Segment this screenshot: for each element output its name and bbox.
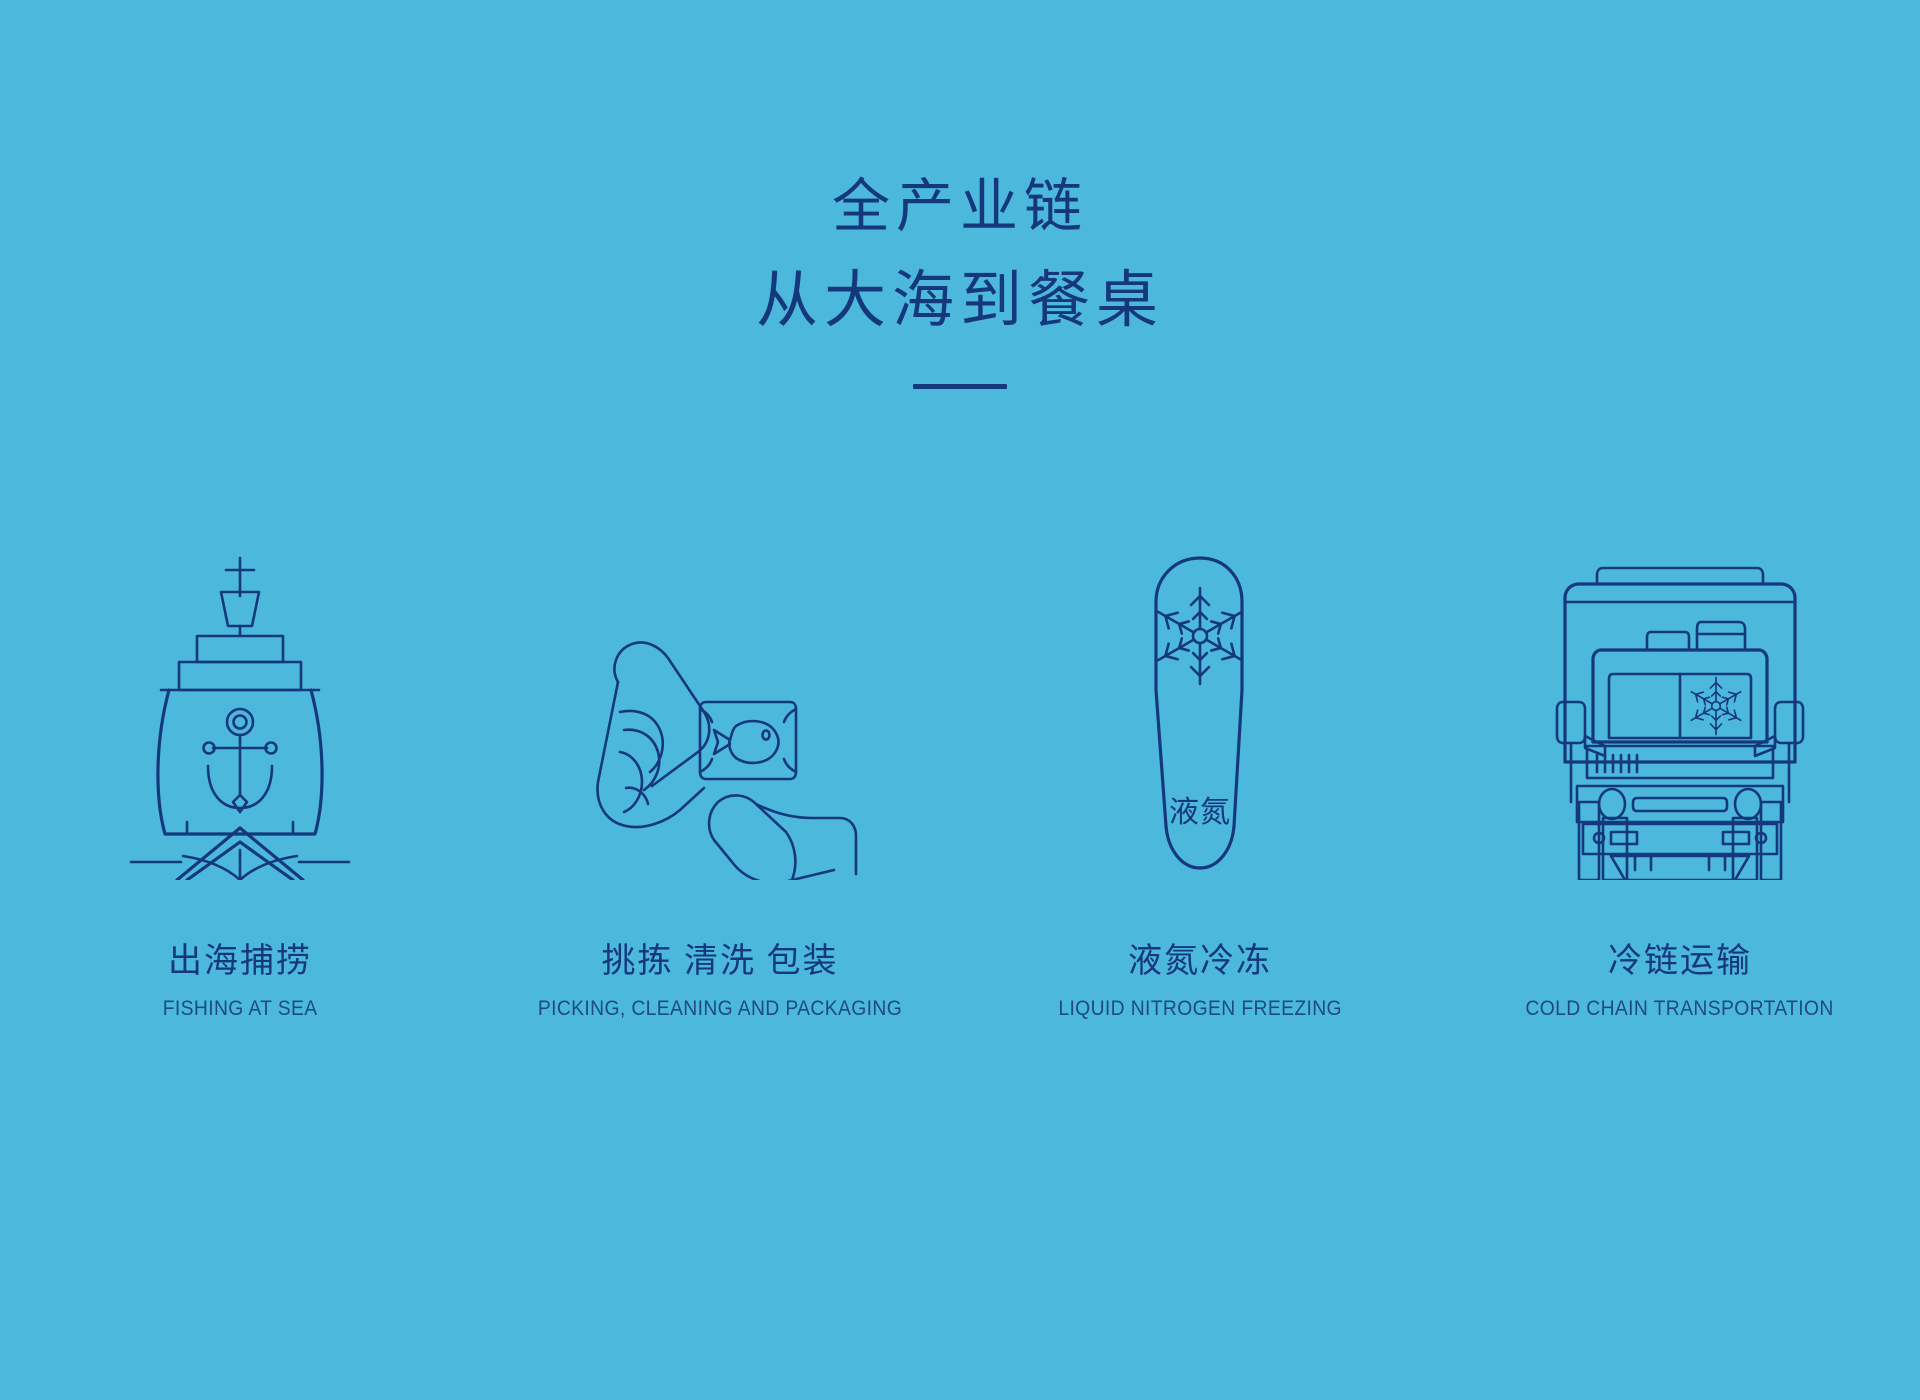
header: 全产业链 从大海到餐桌 <box>0 160 1920 398</box>
step-label-en: LIQUID NITROGEN FREEZING <box>1058 996 1342 1022</box>
nitrogen-tank-icon: 液氮 <box>1130 550 1270 880</box>
hands-with-packaged-fish-icon <box>580 550 860 880</box>
fishing-boat-icon <box>125 550 355 880</box>
process-steps: 出海捕捞 FISHING AT SEA <box>0 520 1920 1022</box>
step-cold-chain-transportation[interactable]: 冷链运输 COLD CHAIN TRANSPORTATION <box>1440 520 1920 1022</box>
page-title-line-2: 从大海到餐桌 <box>0 254 1920 348</box>
infographic-canvas: 全产业链 从大海到餐桌 <box>0 0 1920 1400</box>
step-liquid-nitrogen-freezing[interactable]: 液氮 液氮冷冻 LIQUID NITROGEN FREEZING <box>960 520 1440 1022</box>
title-divider <box>913 384 1007 389</box>
step-label-cn: 液氮冷冻 <box>1128 942 1272 982</box>
step-label-en: PICKING, CLEANING AND PACKAGING <box>538 996 902 1022</box>
nitrogen-tank-icon-box: 液氮 <box>1130 520 1270 880</box>
truck-icon-box <box>1555 520 1805 880</box>
refrigerated-truck-icon <box>1555 550 1805 880</box>
snowflake-icon <box>1154 588 1246 684</box>
title-divider-wrap <box>0 374 1920 398</box>
step-label-en: COLD CHAIN TRANSPORTATION <box>1526 996 1834 1022</box>
fishing-boat-icon-box <box>125 520 355 880</box>
page-title-line-1: 全产业链 <box>0 160 1920 254</box>
step-label-cn: 挑拣 清洗 包装 <box>602 942 839 982</box>
nitrogen-tank-label: 液氮 <box>1169 796 1231 829</box>
step-picking-cleaning-packaging[interactable]: 挑拣 清洗 包装 PICKING, CLEANING AND PACKAGING <box>480 520 960 1022</box>
snowflake-icon <box>1689 677 1744 734</box>
step-fishing-at-sea[interactable]: 出海捕捞 FISHING AT SEA <box>0 520 480 1022</box>
step-label-cn: 冷链运输 <box>1608 942 1752 982</box>
hands-icon-box <box>580 520 860 880</box>
step-label-en: FISHING AT SEA <box>163 996 318 1022</box>
packaged-fish <box>700 702 796 779</box>
step-label-cn: 出海捕捞 <box>168 942 312 982</box>
